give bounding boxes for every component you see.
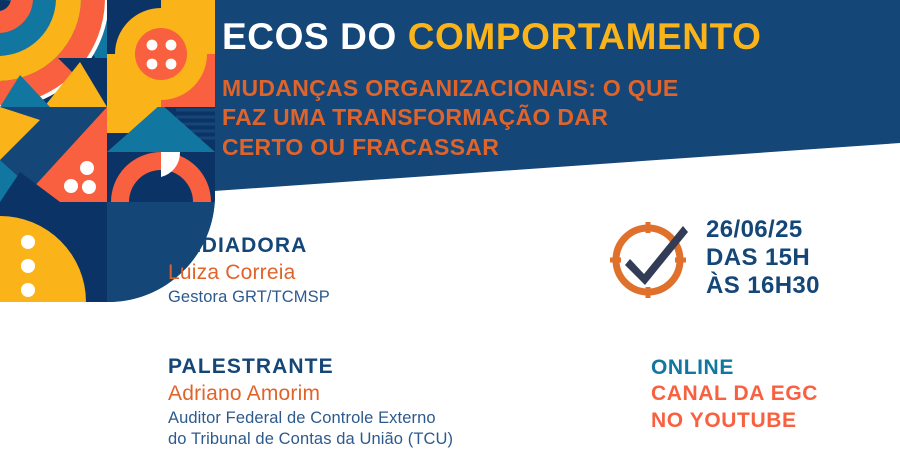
clock-check-icon (608, 216, 692, 300)
speaker-description-line-2: do Tribunal de Contas da União (TCU) (168, 429, 453, 451)
subtitle-line-2: FAZ UMA TRANSFORMAÇÃO DAR (222, 103, 782, 132)
online-label: ONLINE (651, 355, 818, 381)
event-poster: ECOS DO COMPORTAMENTO MUDANÇAS ORGANIZAC… (0, 0, 900, 473)
mediator-name: Luiza Correia (168, 259, 330, 286)
speaker-name: Adriano Amorim (168, 380, 453, 407)
datetime-text: 26/06/25 DAS 15H ÀS 16H30 (706, 216, 820, 299)
title-part-one: ECOS DO (222, 16, 397, 57)
channel-line-1: CANAL DA EGC (651, 381, 818, 407)
subtitle-line-1: MUDANÇAS ORGANIZACIONAIS: O QUE (222, 74, 782, 103)
mediator-description: Gestora GRT/TCMSP (168, 287, 330, 309)
event-end-time: ÀS 16H30 (706, 272, 820, 300)
mediator-role-label: MEDIADORA (168, 233, 330, 259)
speaker-block: PALESTRANTE Adriano Amorim Auditor Feder… (168, 354, 453, 451)
event-date: 26/06/25 (706, 216, 820, 244)
online-block: ONLINE CANAL DA EGC NO YOUTUBE (651, 355, 818, 434)
channel-line-2: NO YOUTUBE (651, 408, 818, 434)
title-part-two: COMPORTAMENTO (408, 16, 762, 57)
subtitle-line-3: CERTO OU FRACASSAR (222, 133, 782, 162)
mediator-block: MEDIADORA Luiza Correia Gestora GRT/TCMS… (168, 233, 330, 308)
datetime-block: 26/06/25 DAS 15H ÀS 16H30 (608, 216, 820, 300)
speaker-role-label: PALESTRANTE (168, 354, 453, 380)
event-start-time: DAS 15H (706, 244, 820, 272)
speaker-description-line-1: Auditor Federal de Controle Externo (168, 408, 453, 430)
page-subtitle: MUDANÇAS ORGANIZACIONAIS: O QUE FAZ UMA … (222, 74, 782, 162)
page-title: ECOS DO COMPORTAMENTO (222, 18, 762, 57)
